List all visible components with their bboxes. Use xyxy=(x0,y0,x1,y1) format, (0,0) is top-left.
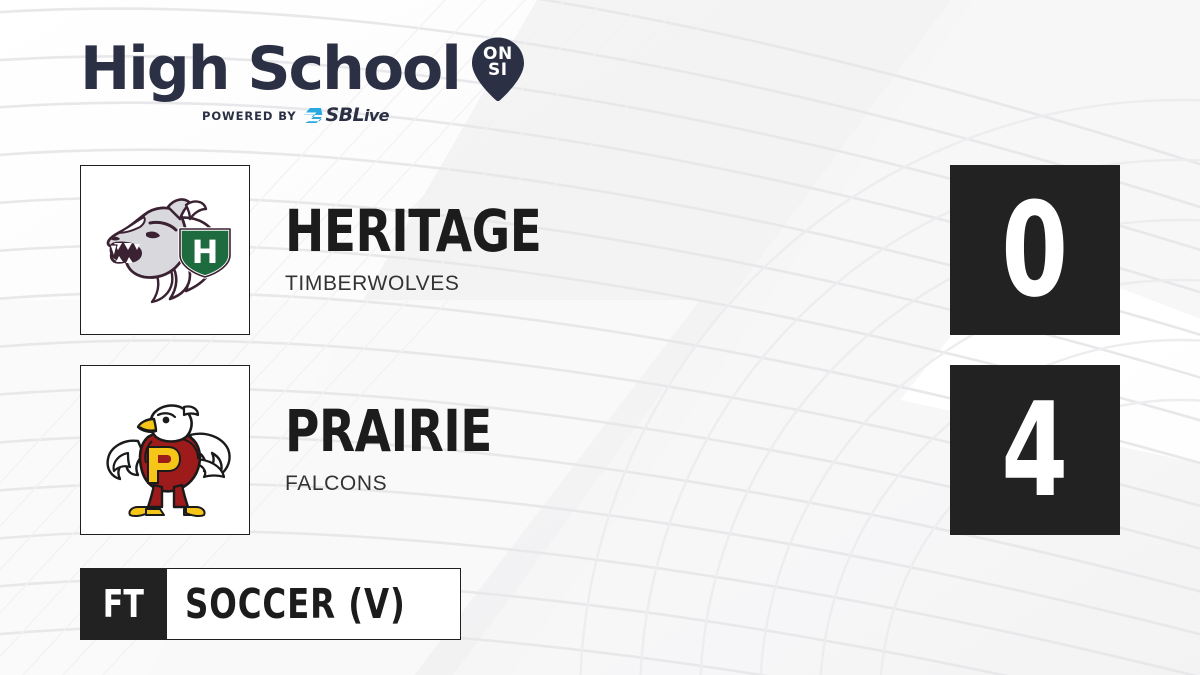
status-sport-label: SOCCER (V) xyxy=(185,580,406,628)
sblive-word-lower: ive xyxy=(364,106,389,125)
status-period-badge: FT xyxy=(80,568,167,640)
team-name-block: PRAIRIE FALCONS xyxy=(285,365,515,535)
brand-header: High School ON SI POWERED BY SBLive xyxy=(80,36,526,125)
on-si-pin-icon: ON SI xyxy=(470,36,526,102)
status-sport-panel: SOCCER (V) xyxy=(167,568,461,640)
timberwolf-head-logo-icon: H xyxy=(90,175,240,325)
team-name: HERITAGE xyxy=(285,204,541,260)
powered-by-label: POWERED BY xyxy=(202,109,296,123)
team-logo-box: H xyxy=(80,165,250,335)
sblive-s-mark xyxy=(303,107,323,124)
team-row: H HERITAGE TIMBERWOLVES 0 xyxy=(0,165,1200,335)
brand-wordmark: High School xyxy=(80,39,460,99)
on-si-pin-text: ON SI xyxy=(470,46,526,78)
team-logo-box xyxy=(80,365,250,535)
team-score: 0 xyxy=(1002,185,1069,315)
sblive-wordmark: SBLive xyxy=(325,106,388,125)
status-period-label: FT xyxy=(103,582,144,626)
pin-line-si: SI xyxy=(470,62,526,78)
sblive-word-upper: SBL xyxy=(325,104,363,126)
game-status-bar: FT SOCCER (V) xyxy=(80,568,461,640)
team-score-box: 0 xyxy=(950,165,1120,335)
team-row: PRAIRIE FALCONS 4 xyxy=(0,365,1200,535)
sblive-logo: SBLive xyxy=(303,106,388,125)
team-score: 4 xyxy=(1002,385,1069,515)
falcon-mascot-logo-icon xyxy=(90,375,240,525)
team-name-block: HERITAGE TIMBERWOLVES xyxy=(285,165,570,335)
powered-by-row: POWERED BY SBLive xyxy=(80,106,526,125)
brand-logo-row: High School ON SI xyxy=(80,36,526,102)
team-name: PRAIRIE xyxy=(285,404,492,460)
svg-text:H: H xyxy=(192,233,219,271)
team-mascot: TIMBERWOLVES xyxy=(285,272,570,296)
team-score-box: 4 xyxy=(950,365,1120,535)
team-mascot: FALCONS xyxy=(285,472,515,496)
